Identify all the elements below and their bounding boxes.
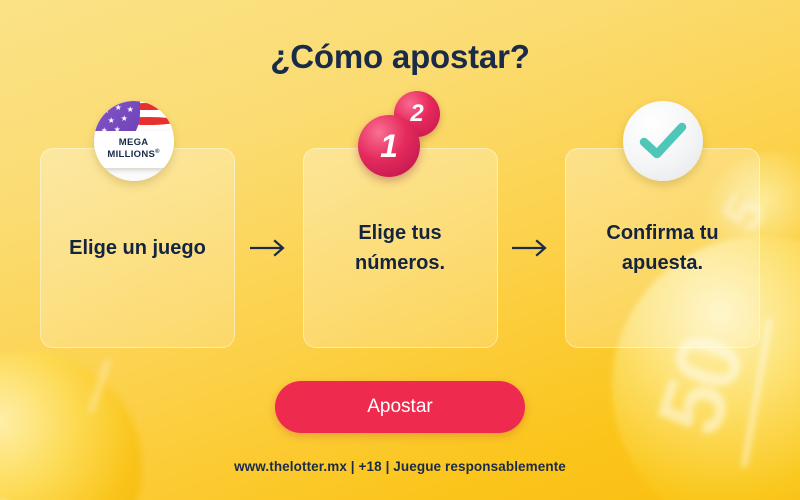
lottery-balls-icon: 2 1	[352, 89, 448, 181]
arrow-right-icon	[246, 237, 292, 259]
step-label-confirm-bet: Confirma tu apuesta.	[578, 218, 748, 278]
check-badge-icon	[623, 101, 703, 181]
step-label-choose-numbers: Elige tus números.	[315, 218, 485, 278]
arrow-right-icon	[508, 237, 554, 259]
step-card-choose-numbers[interactable]: 2 1 Elige tus números.	[303, 148, 498, 348]
mega-millions-logo-icon: ★ ★ ★ ★ ★ ★ ★ MEGA MILLIONS®	[94, 101, 174, 181]
step-card-choose-game[interactable]: ★ ★ ★ ★ ★ ★ ★ MEGA MILLIONS®	[40, 148, 235, 348]
step-card-confirm-bet[interactable]: Confirma tu apuesta.	[565, 148, 760, 348]
lottery-ball-1: 1	[358, 115, 420, 177]
bg-ball-10: 10	[0, 352, 142, 500]
footer-legal-text: www.thelotter.mx | +18 | Juegue responsa…	[0, 459, 800, 474]
bg-ball-10-tick	[88, 359, 110, 414]
mega-millions-wordmark: MEGA MILLIONS®	[94, 131, 174, 168]
mega-millions-line2: MILLIONS	[107, 149, 155, 160]
promo-banner: 5 50 10 ¿Cómo apostar?	[0, 0, 800, 500]
registered-mark-icon: ®	[155, 149, 160, 155]
page-title: ¿Cómo apostar?	[0, 38, 800, 76]
step-label-choose-game: Elige un juego	[57, 233, 218, 263]
mega-millions-line1: MEGA	[94, 137, 174, 149]
steps-row: ★ ★ ★ ★ ★ ★ ★ MEGA MILLIONS®	[40, 148, 760, 348]
bet-now-button[interactable]: Apostar	[275, 381, 525, 433]
